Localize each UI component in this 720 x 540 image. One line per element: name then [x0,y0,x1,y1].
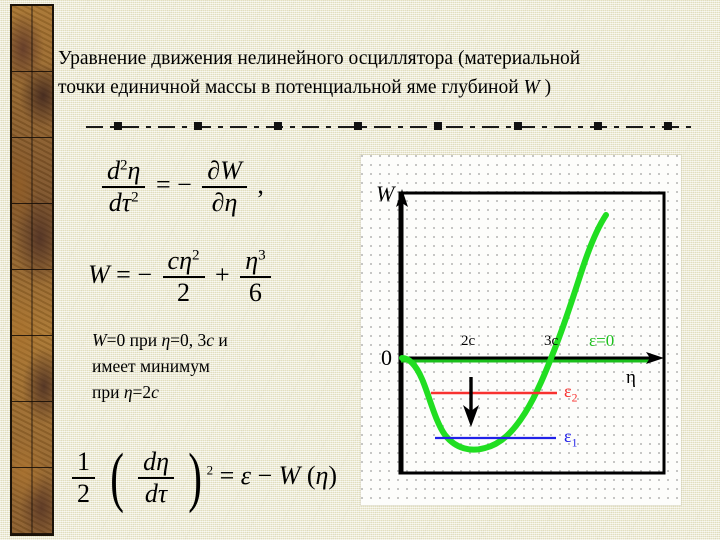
divider-square [514,122,522,130]
eq2-equals: = [116,260,131,289]
potential-curve [402,215,606,450]
y-axis-label: W [376,181,394,207]
divider-square [434,122,442,130]
equation-potential: W = − cη2 2 + η3 6 [88,246,275,308]
eq3-arg-close: ) [328,461,337,490]
eq2-term1-denominator: 2 [163,276,205,308]
eq1-lhs-fraction: d2η dτ2 [102,156,145,218]
epsilon1-label: ε1 [564,426,577,450]
eq2-term2-numerator: η3 [240,246,270,276]
eq2-plus: + [215,260,230,289]
eq1-rhs-denominator: ∂η [202,186,247,218]
title-line-2-tail: ) [540,77,551,98]
xtick-label-3c: 3c [544,333,558,350]
divider-square [274,122,282,130]
eq2-lhs: W [88,260,110,289]
divider-square [114,122,122,130]
eq3-W: W [279,461,301,490]
eq1-equals: = [156,170,171,199]
equation-energy: 1 2 ( dη dτ )2 = ε − W (η) [68,447,337,509]
note-line-2: имеет минимум [92,353,228,379]
title-depth-variable: W [524,77,540,98]
title-line-1-text: Уравнение движения нелинейного осциллято… [58,48,580,69]
eq1-minus: − [177,170,192,199]
x-axis-label: η [626,367,636,389]
eq3-half-denominator: 2 [72,477,95,509]
title-line-2-text: точки единичной массы в потенциальной ям… [58,77,524,98]
title-line-2: точки единичной массы в потенциальной ям… [58,73,718,102]
decorative-left-band [10,4,54,536]
eq3-half-fraction: 1 2 [72,447,95,509]
eq2-term2-denominator: 6 [240,276,270,308]
divider-dash-dot [86,125,696,128]
epsilon-zero-label: ε=0 [589,331,614,351]
origin-label: 0 [381,345,392,371]
eq2-term1-fraction: cη2 2 [163,246,205,308]
note-line-3: при η=2c [92,379,228,405]
eq1-numerator: d2η [102,156,145,186]
page-title: Уравнение движения нелинейного осциллято… [58,44,718,102]
eq1-rhs-fraction: ∂W ∂η [202,156,247,218]
band-grid-overlay [12,6,52,534]
divider-square [664,122,672,130]
divider-square [194,122,202,130]
title-line-1: Уравнение движения нелинейного осциллято… [58,44,718,73]
eq1-rhs-numerator: ∂W [202,156,247,186]
divider-square [354,122,362,130]
eq1-comma: , [257,170,264,199]
eq3-half-numerator: 1 [72,447,95,477]
divider-rule [86,126,696,128]
eq1-denominator: dτ2 [102,186,145,218]
eq2-term2-fraction: η3 6 [240,246,270,308]
eq3-open-paren: ( [110,450,124,506]
eq3-arg-open: ( [307,461,316,490]
eq3-derivative-numerator: dη [138,447,174,477]
eq3-equals: = [220,461,235,490]
equation-motion: d2η dτ2 = − ∂W ∂η , [98,156,264,218]
eq3-derivative-denominator: dτ [138,477,174,509]
note-line-1: W=0 при η=0, 3c и [92,327,228,353]
eq2-minus: − [137,260,152,289]
epsilon2-label: ε2 [564,381,577,405]
eq3-epsilon: ε [241,461,251,490]
potential-well-chart: W 0 2c 3c η ε=0 ε2 ε1 [361,155,681,505]
eq3-close-paren: ) [189,450,203,506]
xtick-label-2c: 2c [461,333,475,350]
chart-svg [361,155,681,505]
eq3-power: 2 [207,462,214,477]
eq3-minus: − [257,461,272,490]
note-text: W=0 при η=0, 3c и имеет минимум при η=2c [92,327,228,405]
slide-canvas: Уравнение движения нелинейного осциллято… [0,0,720,540]
eq3-derivative-fraction: dη dτ [138,447,174,509]
eq2-term1-numerator: cη2 [163,246,205,276]
eq3-arg-var: η [316,461,329,490]
divider-square [594,122,602,130]
